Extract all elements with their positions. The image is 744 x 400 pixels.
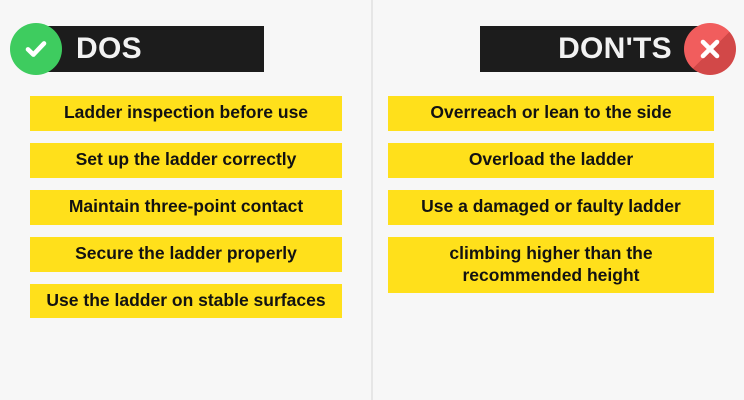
- dos-and-donts-board: DOS Ladder inspection before use Set up …: [0, 0, 744, 400]
- donts-list: Overreach or lean to the side Overload t…: [372, 96, 744, 305]
- x-circle-icon: [684, 23, 736, 75]
- list-item: Secure the ladder properly: [30, 237, 342, 272]
- dos-list: Ladder inspection before use Set up the …: [0, 96, 372, 330]
- list-item: climbing higher than the recommended hei…: [388, 237, 714, 294]
- donts-column: DON'TS Overreach or lean to the side Ove…: [372, 0, 744, 400]
- list-item: Overreach or lean to the side: [388, 96, 714, 131]
- list-item: Maintain three-point contact: [30, 190, 342, 225]
- dos-title: DOS: [76, 26, 142, 72]
- list-item: Ladder inspection before use: [30, 96, 342, 131]
- dos-header: DOS: [28, 26, 312, 72]
- dos-header-bar: DOS: [28, 26, 264, 72]
- donts-title: DON'TS: [558, 26, 672, 72]
- donts-header: DON'TS: [432, 26, 716, 72]
- list-item: Use the ladder on stable surfaces: [30, 284, 342, 319]
- list-item: Set up the ladder correctly: [30, 143, 342, 178]
- list-item: Overload the ladder: [388, 143, 714, 178]
- dos-column: DOS Ladder inspection before use Set up …: [0, 0, 372, 400]
- list-item: Use a damaged or faulty ladder: [388, 190, 714, 225]
- column-divider: [371, 0, 373, 400]
- check-circle-icon: [10, 23, 62, 75]
- donts-header-bar: DON'TS: [480, 26, 716, 72]
